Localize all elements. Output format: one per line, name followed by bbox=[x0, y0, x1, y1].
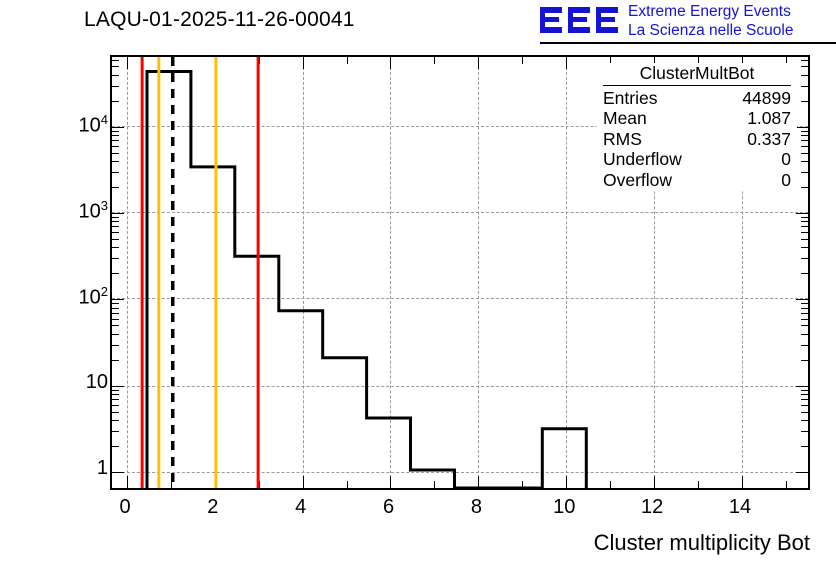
x-tick-label-6: 6 bbox=[359, 496, 419, 519]
y-tick-label-10000: 104 bbox=[48, 112, 108, 138]
stats-value-entries: 44899 bbox=[742, 88, 791, 109]
stats-label-entries: Entries bbox=[603, 88, 657, 109]
x-tick-label-10: 10 bbox=[534, 496, 594, 519]
stats-label-mean: Mean bbox=[603, 108, 647, 129]
x-tick-label-8: 8 bbox=[446, 496, 506, 519]
stats-value-mean: 1.087 bbox=[747, 108, 791, 129]
y-tick-label-10: 10 bbox=[48, 371, 108, 394]
logo-underline bbox=[540, 42, 836, 44]
x-tick-label-2: 2 bbox=[183, 496, 243, 519]
x-tick-label-4: 4 bbox=[271, 496, 331, 519]
x-tick-label-12: 12 bbox=[622, 496, 682, 519]
stats-label-rms: RMS bbox=[603, 129, 642, 150]
stats-box: ClusterMultBot Entries 44899 Mean 1.087 … bbox=[597, 63, 797, 190]
stats-row-underflow: Underflow 0 bbox=[597, 149, 797, 170]
eee-logo: Extreme Energy Events La Scienza nelle S… bbox=[540, 2, 830, 42]
stats-row-overflow: Overflow 0 bbox=[597, 170, 797, 191]
stats-row-mean: Mean 1.087 bbox=[597, 108, 797, 129]
stats-value-rms: 0.337 bbox=[747, 129, 791, 150]
eee-logo-line2: La Scienza nelle Scuole bbox=[628, 22, 793, 41]
stats-label-overflow: Overflow bbox=[603, 170, 672, 191]
y-tick-label-1: 1 bbox=[48, 457, 108, 480]
stats-value-underflow: 0 bbox=[781, 149, 791, 170]
y-tick-label-100: 102 bbox=[48, 284, 108, 310]
x-axis-title: Cluster multiplicity Bot bbox=[594, 530, 810, 556]
eee-logo-line1: Extreme Energy Events bbox=[628, 3, 793, 22]
eee-logo-mark bbox=[540, 5, 620, 37]
page-title: LAQU-01-2025-11-26-00041 bbox=[84, 8, 355, 32]
x-tick-label-14: 14 bbox=[710, 496, 770, 519]
y-tick-label-1000: 103 bbox=[48, 198, 108, 224]
x-tick-label-0: 0 bbox=[95, 496, 155, 519]
stats-value-overflow: 0 bbox=[781, 170, 791, 191]
eee-logo-text: Extreme Energy Events La Scienza nelle S… bbox=[628, 3, 793, 40]
stats-title: ClusterMultBot bbox=[603, 63, 791, 86]
stats-row-entries: Entries 44899 bbox=[597, 88, 797, 109]
stats-label-underflow: Underflow bbox=[603, 149, 682, 170]
stats-row-rms: RMS 0.337 bbox=[597, 129, 797, 150]
